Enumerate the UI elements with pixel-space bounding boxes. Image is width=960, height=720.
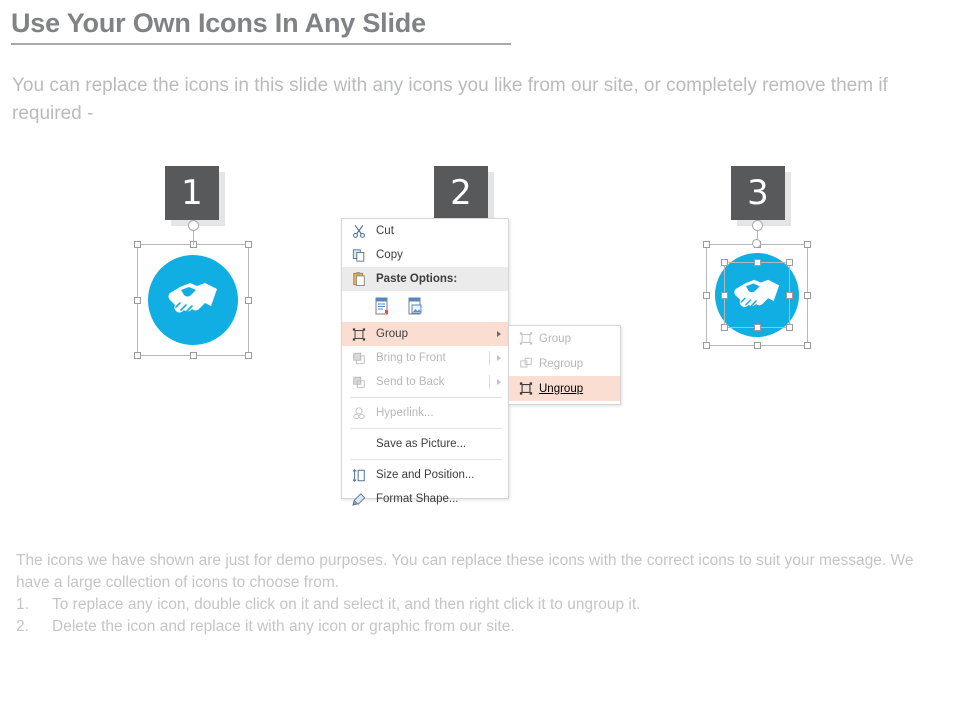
inner-resize-handle-w[interactable]	[721, 292, 728, 299]
menu-item-bring-to-front: Bring to Front	[342, 346, 508, 370]
menu-separator	[350, 397, 502, 398]
menu-divider-vertical	[489, 375, 490, 389]
paste-keep-source-formatting-icon[interactable]	[372, 295, 395, 318]
inner-resize-handle-ne[interactable]	[786, 259, 793, 266]
menu-item-group-label: Group	[376, 328, 408, 340]
paste-options-buttons[interactable]	[342, 291, 508, 322]
bottom-instruction-list: 1. To replace any icon, double click on …	[16, 594, 946, 638]
step-badge-3-number: 3	[731, 166, 785, 220]
resize-handle-nw[interactable]	[134, 241, 141, 248]
resize-handle-ne[interactable]	[804, 241, 811, 248]
submenu-item-group-label: Group	[539, 333, 571, 345]
menu-item-paste-options-label: Paste Options:	[376, 273, 457, 285]
resize-handle-sw[interactable]	[703, 342, 710, 349]
step-badge-3: 3	[731, 166, 785, 220]
paste-picture-icon[interactable]	[405, 295, 428, 318]
slide-canvas: Use Your Own Icons In Any Slide You can …	[0, 0, 960, 720]
inner-resize-handle-s[interactable]	[754, 324, 761, 331]
step-badge-1-number: 1	[165, 166, 219, 220]
submenu-item-regroup-label: Regroup	[539, 358, 583, 370]
menu-item-bring-to-front-label: Bring to Front	[376, 352, 446, 364]
menu-item-save-as-picture[interactable]: Save as Picture...	[342, 432, 508, 456]
menu-item-copy[interactable]: Copy	[342, 243, 508, 267]
rotation-handle-3[interactable]	[752, 220, 763, 231]
group-icon	[517, 330, 534, 347]
menu-item-group[interactable]: Group	[342, 322, 508, 346]
menu-item-format-shape[interactable]: Format Shape...	[342, 487, 508, 511]
copy-icon	[350, 247, 367, 264]
menu-item-save-as-picture-label: Save as Picture...	[376, 438, 466, 450]
resize-handle-se[interactable]	[245, 352, 252, 359]
menu-item-size-and-position-label: Size and Position...	[376, 469, 474, 481]
selection-frame-step-1[interactable]	[137, 244, 249, 356]
selection-frame-inner-step-3[interactable]	[724, 262, 790, 328]
resize-handle-w[interactable]	[134, 297, 141, 304]
menu-item-send-to-back: Send to Back	[342, 370, 508, 394]
scissors-icon	[350, 223, 367, 240]
submenu-item-regroup: Regroup	[509, 351, 620, 376]
menu-item-size-and-position[interactable]: Size and Position...	[342, 463, 508, 487]
list-item-text: Delete the icon and replace it with any …	[52, 618, 515, 635]
regroup-icon	[517, 355, 534, 372]
page-title: Use Your Own Icons In Any Slide	[11, 8, 426, 39]
inner-resize-handle-sw[interactable]	[721, 324, 728, 331]
submenu-item-ungroup[interactable]: Ungroup	[509, 376, 620, 401]
menu-item-cut[interactable]: Cut	[342, 219, 508, 243]
context-menu[interactable]: Cut Copy Paste Options:	[341, 218, 509, 499]
resize-handle-s[interactable]	[754, 342, 761, 349]
step-badge-1: 1	[165, 166, 219, 220]
menu-separator	[350, 459, 502, 460]
menu-item-format-shape-label: Format Shape...	[376, 493, 458, 505]
group-submenu[interactable]: Group Regroup Ungroup	[508, 325, 621, 405]
step-badge-2: 2	[434, 166, 488, 220]
menu-separator	[350, 428, 502, 429]
chevron-right-icon	[497, 331, 501, 337]
step-badge-2-number: 2	[434, 166, 488, 220]
resize-handle-e[interactable]	[245, 297, 252, 304]
ungroup-icon	[517, 380, 534, 397]
group-icon	[350, 326, 367, 343]
resize-handle-e[interactable]	[804, 292, 811, 299]
clipboard-icon	[350, 271, 367, 288]
resize-handle-sw[interactable]	[134, 352, 141, 359]
resize-handle-s[interactable]	[190, 352, 197, 359]
inner-resize-handle-nw[interactable]	[721, 259, 728, 266]
menu-item-send-to-back-label: Send to Back	[376, 376, 444, 388]
format-shape-icon	[350, 491, 367, 508]
list-item: 1. To replace any icon, double click on …	[16, 594, 946, 616]
resize-handle-se[interactable]	[804, 342, 811, 349]
menu-item-paste-options: Paste Options:	[342, 267, 508, 291]
list-item: 2. Delete the icon and replace it with a…	[16, 616, 946, 638]
menu-item-copy-label: Copy	[376, 249, 403, 261]
page-subtitle: You can replace the icons in this slide …	[12, 72, 957, 128]
list-item-number: 2.	[16, 616, 29, 638]
resize-handle-w[interactable]	[703, 292, 710, 299]
list-item-number: 1.	[16, 594, 29, 616]
rotation-handle-3-inner[interactable]	[752, 239, 761, 248]
rotation-handle-1[interactable]	[188, 220, 199, 231]
resize-handle-ne[interactable]	[245, 241, 252, 248]
title-underline	[11, 43, 511, 45]
inner-resize-handle-e[interactable]	[786, 292, 793, 299]
inner-resize-handle-se[interactable]	[786, 324, 793, 331]
size-position-icon	[350, 467, 367, 484]
send-to-back-icon	[350, 374, 367, 391]
submenu-item-ungroup-label: Ungroup	[539, 383, 583, 395]
bring-to-front-icon	[350, 350, 367, 367]
submenu-item-group: Group	[509, 326, 620, 351]
menu-item-cut-label: Cut	[376, 225, 394, 237]
resize-handle-nw[interactable]	[703, 241, 710, 248]
bottom-text-block: The icons we have shown are just for dem…	[16, 550, 946, 638]
list-item-text: To replace any icon, double click on it …	[52, 596, 640, 613]
chevron-right-icon	[497, 379, 501, 385]
menu-divider-vertical	[489, 351, 490, 365]
bottom-paragraph: The icons we have shown are just for dem…	[16, 550, 946, 594]
menu-item-hyperlink: Hyperlink...	[342, 401, 508, 425]
chevron-right-icon	[497, 355, 501, 361]
menu-item-hyperlink-label: Hyperlink...	[376, 407, 434, 419]
inner-resize-handle-n[interactable]	[754, 259, 761, 266]
hyperlink-icon	[350, 405, 367, 422]
